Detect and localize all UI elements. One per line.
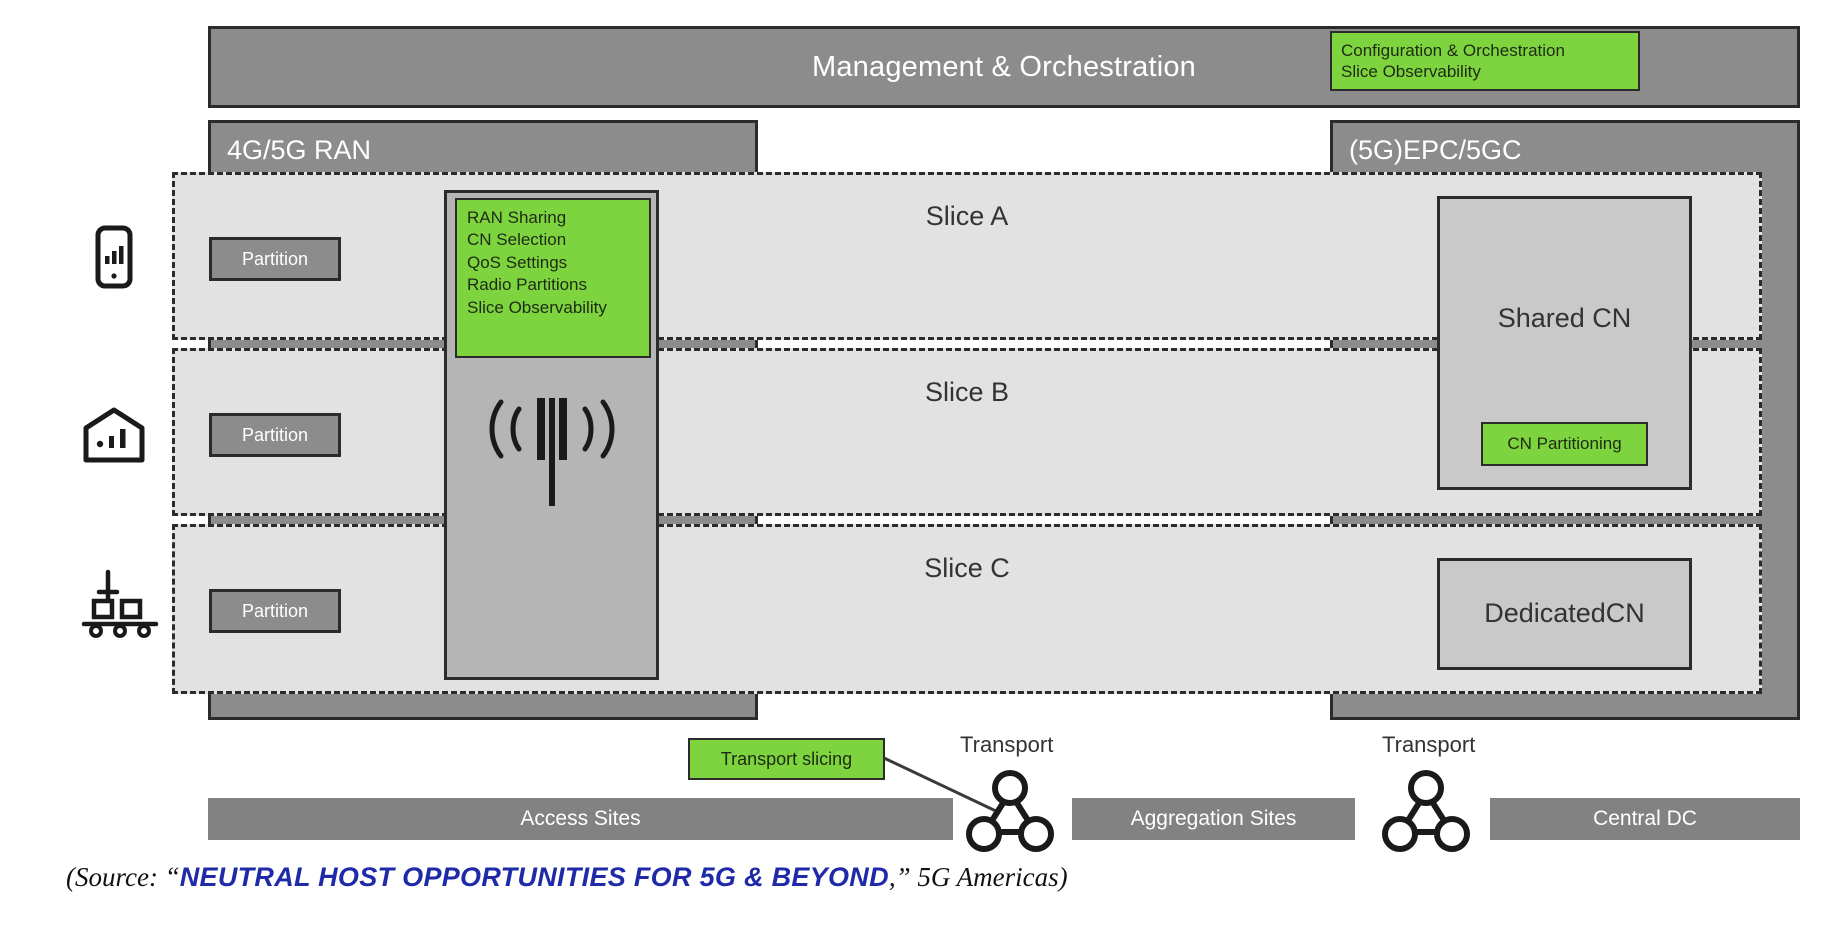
ran-feature-ran-sharing: RAN Sharing <box>467 207 639 229</box>
dedicated-cn-box: Dedicated CN <box>1437 558 1692 670</box>
slice-a-partition: Partition <box>209 237 341 281</box>
source-prefix: (Source: “ <box>66 862 180 892</box>
ran-feature-cn-selection: CN Selection <box>467 229 639 251</box>
factory-conveyor-icon <box>78 568 150 640</box>
ran-feature-qos-settings: QoS Settings <box>467 252 639 274</box>
transport-label-access: Transport <box>960 732 1053 758</box>
ran-feature-slice-observability: Slice Observability <box>467 297 639 319</box>
home-building-icon <box>78 400 150 472</box>
shared-cn-label: Shared CN <box>1440 303 1689 334</box>
central-dc-bar: Central DC <box>1490 798 1800 840</box>
ran-domain-label: 4G/5G RAN <box>227 135 371 166</box>
cell-tower-antenna-icon <box>444 390 659 520</box>
transport-node-icon-2 <box>1378 770 1474 854</box>
source-work-title: NEUTRAL HOST OPPORTUNITIES FOR 5G & BEYO… <box>180 862 889 892</box>
management-callout-line-2: Slice Observability <box>1341 61 1629 82</box>
diagram-canvas: Management & Orchestration Configuration… <box>0 0 1826 932</box>
source-suffix: ,” 5G Americas) <box>889 862 1068 892</box>
access-sites-bar: Access Sites <box>208 798 953 840</box>
management-callout-line-1: Configuration & Orchestration <box>1341 40 1629 61</box>
ran-features-callout: RAN Sharing CN Selection QoS Settings Ra… <box>455 198 651 358</box>
transport-label-aggregation: Transport <box>1382 732 1475 758</box>
slice-c-partition: Partition <box>209 589 341 633</box>
aggregation-sites-bar: Aggregation Sites <box>1072 798 1355 840</box>
ran-feature-radio-partitions: Radio Partitions <box>467 274 639 296</box>
management-callout: Configuration & Orchestration Slice Obse… <box>1330 31 1640 91</box>
transport-node-icon-1 <box>962 770 1058 854</box>
cn-partitioning-callout: CN Partitioning <box>1481 422 1648 466</box>
core-domain-label: (5G)EPC/5GC <box>1349 135 1522 166</box>
slice-b-partition: Partition <box>209 413 341 457</box>
mobile-phone-icon <box>78 222 150 294</box>
transport-slicing-callout: Transport slicing <box>688 738 885 780</box>
source-caption: (Source: “NEUTRAL HOST OPPORTUNITIES FOR… <box>66 862 1068 893</box>
dedicated-cn-label-line-1: Dedicated <box>1484 598 1606 629</box>
dedicated-cn-label-line-2: CN <box>1606 598 1645 629</box>
